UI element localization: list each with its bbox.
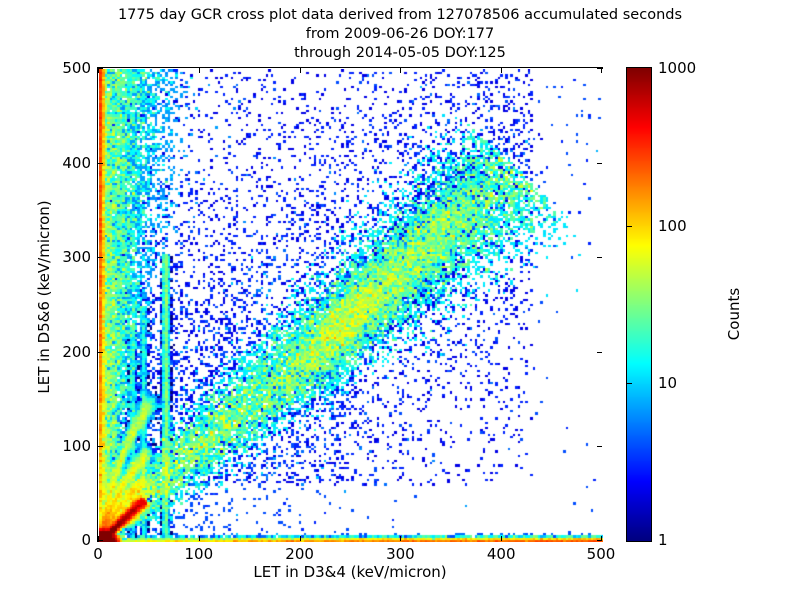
y-tick-mark	[98, 446, 103, 447]
y-tick-mark	[98, 163, 103, 164]
y-axis-label: LET in D5&6 (keV/micron)	[35, 187, 53, 407]
x-tick-label: 500	[587, 545, 616, 563]
y-tick-label: 400	[39, 154, 91, 172]
plot-title: 1775 day GCR cross plot data derived fro…	[0, 6, 800, 63]
colorbar-label: Counts	[725, 204, 743, 424]
x-tick-mark	[199, 536, 200, 541]
y-tick-mark	[597, 352, 602, 353]
colorbar-gradient	[627, 68, 651, 541]
y-tick-mark	[597, 540, 602, 541]
y-tick-mark	[98, 257, 103, 258]
y-tick-label: 0	[39, 531, 91, 549]
x-tick-mark	[501, 68, 502, 73]
y-tick-mark	[597, 68, 602, 69]
x-tick-label: 100	[184, 545, 213, 563]
x-tick-label: 0	[93, 545, 103, 563]
y-tick-mark	[98, 68, 103, 69]
y-tick-mark	[597, 446, 602, 447]
plot-title-line-1: 1775 day GCR cross plot data derived fro…	[0, 6, 800, 25]
y-tick-mark	[597, 163, 602, 164]
x-tick-mark	[501, 536, 502, 541]
y-tick-mark	[98, 540, 103, 541]
colorbar-frame	[626, 67, 652, 542]
colorbar-tick-mark	[627, 226, 632, 227]
colorbar-tick-label: 100	[658, 217, 687, 235]
x-tick-mark	[300, 536, 301, 541]
x-tick-label: 400	[487, 545, 516, 563]
y-tick-label: 500	[39, 59, 91, 77]
colorbar-tick-label: 10	[658, 374, 677, 392]
x-tick-mark	[400, 68, 401, 73]
figure-canvas: 1775 day GCR cross plot data derived fro…	[0, 0, 800, 600]
plot-title-line-2: from 2009-06-26 DOY:177	[0, 25, 800, 44]
x-tick-mark	[300, 68, 301, 73]
heatmap-canvas	[99, 69, 603, 542]
y-tick-mark	[98, 352, 103, 353]
x-tick-mark	[400, 536, 401, 541]
x-tick-label: 200	[285, 545, 314, 563]
colorbar-tick-label: 1	[658, 531, 668, 549]
colorbar-tick-mark	[627, 383, 632, 384]
plot-axes-frame	[97, 67, 603, 542]
x-tick-mark	[199, 68, 200, 73]
x-axis-label: LET in D3&4 (keV/micron)	[97, 563, 603, 581]
y-tick-label: 100	[39, 437, 91, 455]
colorbar-tick-label: 1000	[658, 59, 696, 77]
y-tick-mark	[597, 257, 602, 258]
x-tick-label: 300	[386, 545, 415, 563]
